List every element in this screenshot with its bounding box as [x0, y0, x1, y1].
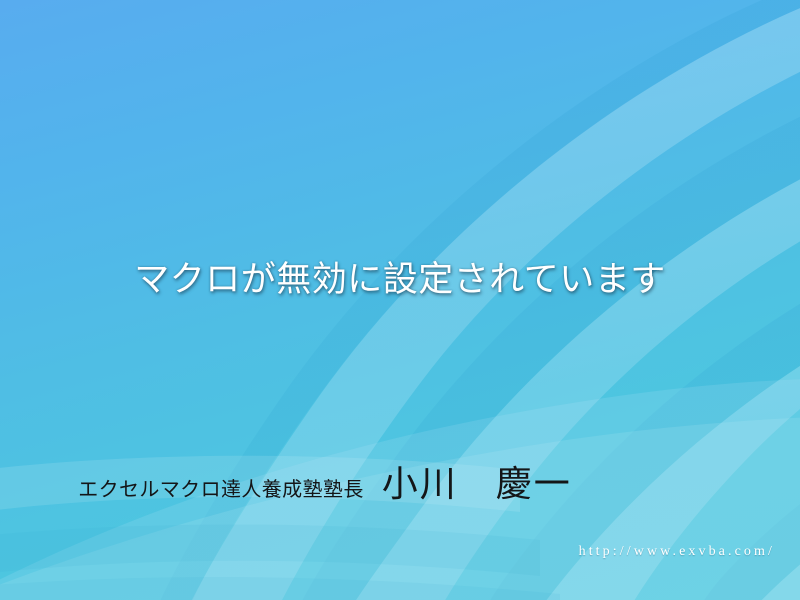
- website-url[interactable]: http://www.exvba.com/: [0, 544, 800, 560]
- presenter-organization: エクセルマクロ達人養成塾塾長: [78, 479, 364, 501]
- slide-title: マクロが無効に設定されています: [0, 258, 800, 302]
- presentation-slide: マクロが無効に設定されています エクセルマクロ達人養成塾塾長小川 慶一 http…: [0, 0, 800, 600]
- presenter-line: エクセルマクロ達人養成塾塾長小川 慶一: [0, 462, 800, 514]
- presenter-name: 小川 慶一: [382, 463, 572, 504]
